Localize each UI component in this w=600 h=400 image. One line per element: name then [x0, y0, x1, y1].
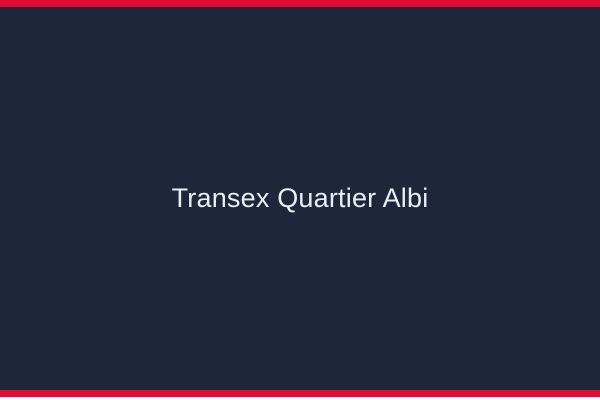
top-accent-bar: [0, 0, 600, 7]
placeholder-card-body: Transex Quartier Albi: [0, 7, 600, 390]
bottom-accent-bar: [0, 390, 600, 397]
placeholder-card: Transex Quartier Albi: [0, 0, 600, 400]
page-title: Transex Quartier Albi: [172, 182, 429, 214]
